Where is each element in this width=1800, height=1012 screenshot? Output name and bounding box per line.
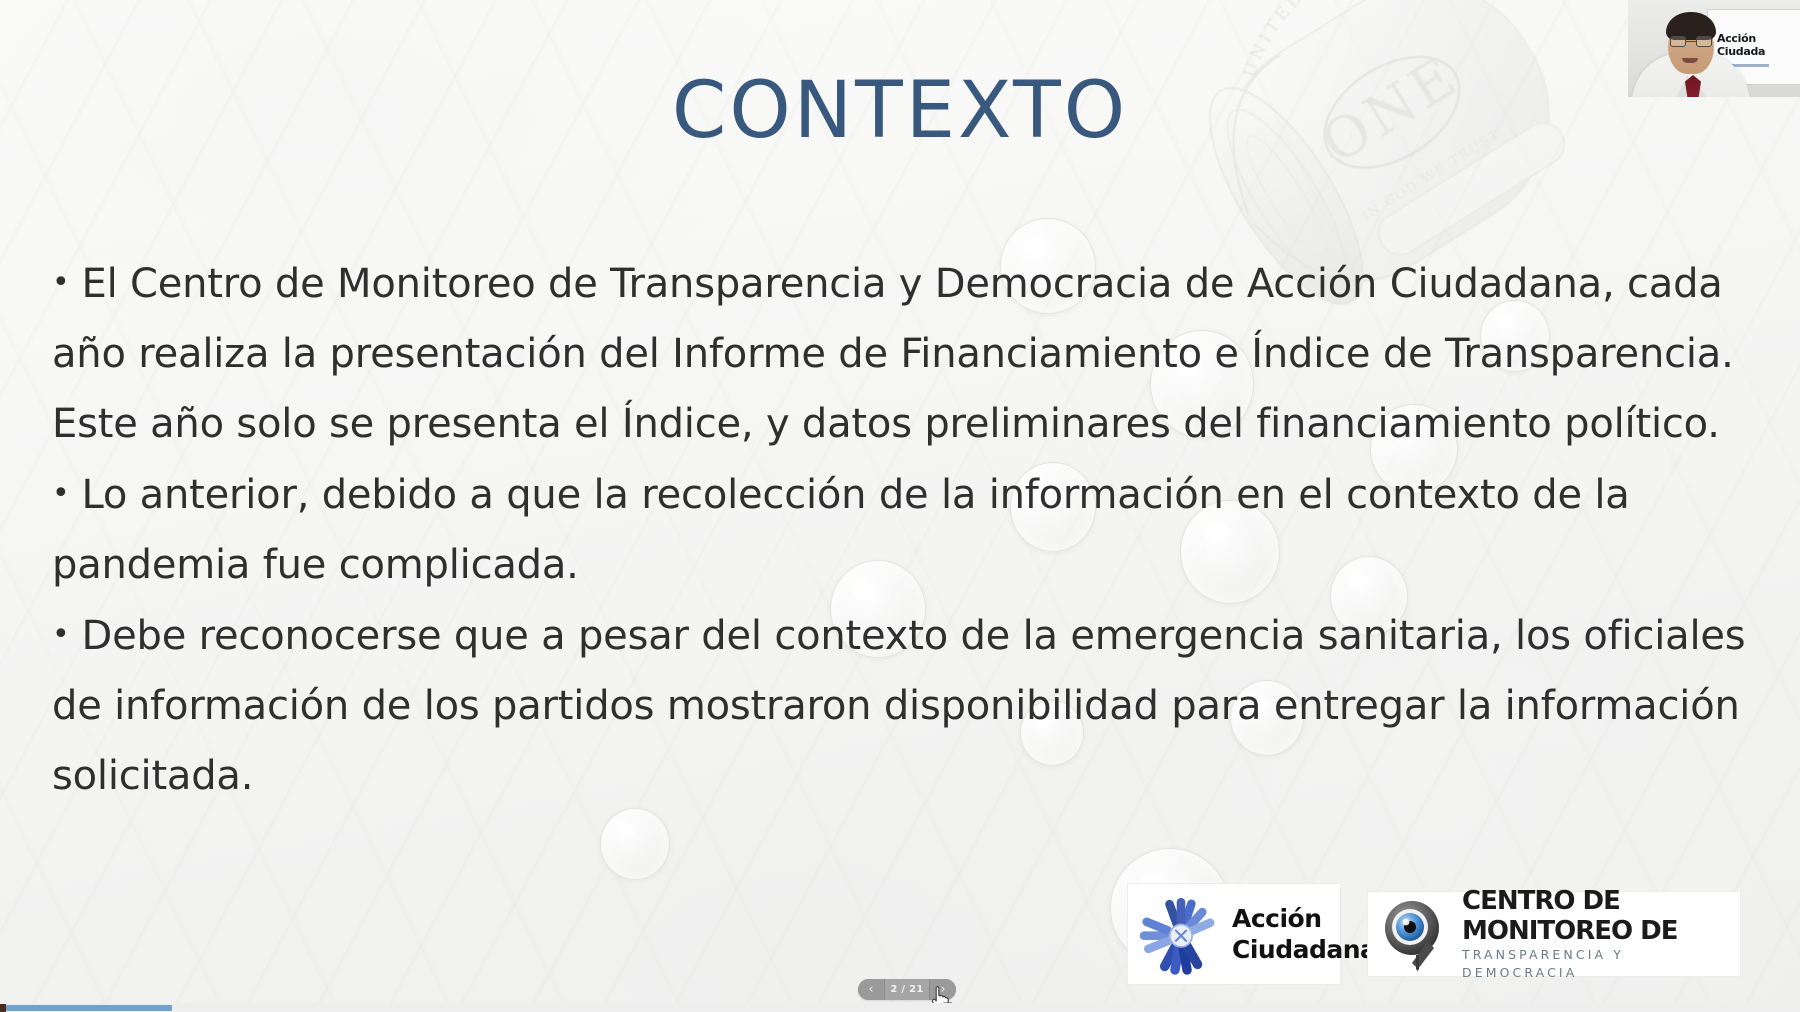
bottom-progress-fill bbox=[6, 1005, 172, 1011]
previous-slide-button[interactable]: ‹ bbox=[858, 979, 884, 1000]
bullet-item: •Debe reconocerse que a pesar del contex… bbox=[52, 600, 1752, 811]
bullet-item: •El Centro de Monitoreo de Transparencia… bbox=[52, 248, 1752, 459]
webcam-scene: Acción Ciudada bbox=[1628, 0, 1800, 97]
webcam-shirt-collar-left bbox=[1672, 75, 1688, 97]
bullet-text: El Centro de Monitoreo de Transparencia … bbox=[52, 261, 1734, 447]
centro-monitoreo-subtitle: TRANSPARENCIA Y DEMOCRACIA bbox=[1462, 946, 1730, 982]
accion-ciudadana-wordmark: Acción Ciudadana bbox=[1232, 903, 1376, 965]
logo-accion-ciudadana: Acción Ciudadana bbox=[1128, 884, 1340, 984]
logo-centro-monitoreo: CENTRO DE MONITOREO DE TRANSPARENCIA Y D… bbox=[1368, 892, 1740, 976]
bullet-text: Debe reconocerse que a pesar del context… bbox=[52, 613, 1745, 799]
next-slide-button[interactable]: › bbox=[930, 979, 956, 1000]
bullet-marker-icon: • bbox=[52, 459, 70, 529]
presentation-slide-stage: ONE UNITED STATES IN GOD WE TRUST CONTEX… bbox=[0, 0, 1800, 1012]
webcam-video-thumbnail[interactable]: Acción Ciudada bbox=[1628, 0, 1800, 97]
webcam-glasses-lens-right bbox=[1696, 36, 1712, 47]
bullet-marker-icon: • bbox=[52, 248, 70, 318]
webcam-banner-line2: Ciudada bbox=[1717, 45, 1765, 58]
webcam-banner-line1: Acción bbox=[1717, 32, 1765, 45]
accion-ciudadana-starburst-icon bbox=[1138, 891, 1224, 977]
webcam-person-glasses-icon bbox=[1670, 36, 1712, 47]
accion-ciudadana-line2: Ciudadana bbox=[1232, 934, 1376, 965]
slide-title: CONTEXTO bbox=[0, 72, 1800, 150]
webcam-glasses-lens-left bbox=[1670, 36, 1686, 47]
bullet-text: Lo anterior, debido a que la recolección… bbox=[52, 472, 1630, 588]
bullet-marker-icon: • bbox=[52, 600, 70, 670]
centro-monitoreo-eye-icon bbox=[1378, 897, 1456, 971]
centro-monitoreo-title: CENTRO DE MONITOREO DE bbox=[1462, 886, 1730, 946]
webcam-banner-text: Acción Ciudada bbox=[1717, 32, 1765, 58]
webcam-person-mouth bbox=[1682, 58, 1698, 63]
bottom-progress-track[interactable] bbox=[0, 1003, 1800, 1012]
slide-counter: 2 / 21 bbox=[884, 979, 930, 1000]
footer-logo-strip: Acción Ciudadana bbox=[1128, 884, 1740, 984]
centro-monitoreo-wordmark: CENTRO DE MONITOREO DE TRANSPARENCIA Y D… bbox=[1462, 886, 1730, 982]
webcam-glasses-bridge bbox=[1686, 41, 1696, 42]
accion-ciudadana-line1: Acción bbox=[1232, 903, 1376, 934]
slide-navigation-control[interactable]: ‹ 2 / 21 › bbox=[858, 979, 956, 1000]
bullet-item: •Lo anterior, debido a que la recolecció… bbox=[52, 459, 1752, 600]
slide-body-content: •El Centro de Monitoreo de Transparencia… bbox=[52, 248, 1752, 811]
